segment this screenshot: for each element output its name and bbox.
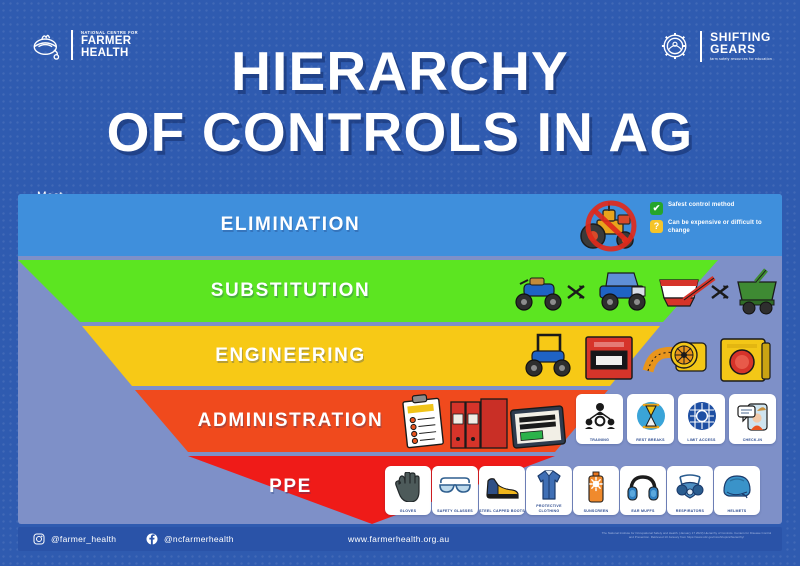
limit-access-icon [678, 394, 725, 438]
tile-caption: GLOVES [384, 509, 432, 515]
facebook-icon [146, 533, 158, 545]
swap-arrows-icon [712, 286, 728, 299]
quad-bike-icon [516, 278, 561, 310]
footer-bar: @farmer_health @ncfarmerhealth www.farme… [18, 527, 782, 551]
training-icon [576, 394, 623, 438]
no-tractor-icon [567, 198, 659, 254]
tile-steel-capped-boots: STEEL CAPPED BOOTS [479, 466, 525, 515]
gloves-icon [385, 466, 431, 509]
tile-caption: PROTECTIVE CLOTHING [525, 504, 573, 515]
grain-auger-icon [660, 278, 714, 306]
tile-caption: EAR MUFFS [619, 509, 667, 515]
hierarchy-panel: ELIMINATION ✔ Safest control method [18, 194, 782, 524]
tile-caption: SUNSCREEN [572, 509, 620, 515]
tile-sunscreen: SUNSCREEN [573, 466, 619, 515]
source-attribution: The National Institute for Occupational … [599, 531, 774, 539]
level-label-engineering: ENGINEERING [18, 345, 563, 367]
tile-caption: REST BREAKS [626, 438, 675, 444]
tile-caption: CHECK-IN [728, 438, 777, 444]
induction-training-icon [510, 406, 565, 448]
page-title: HIERARCHY OF CONTROLS IN AG [0, 44, 800, 160]
engineering-icon-group [518, 327, 780, 385]
tile-rest-breaks: REST BREAKS [627, 394, 674, 444]
sunscreen-icon [573, 466, 619, 509]
level-label-substitution: SUBSTITUTION [18, 280, 563, 302]
facebook-handle: @ncfarmerhealth [164, 534, 234, 544]
emergency-stop-icon [721, 339, 770, 381]
ventilation-fan-icon [648, 342, 706, 371]
info-box: ✔ Safest control method ? Can be expensi… [650, 202, 772, 240]
tile-caption: STEEL CAPPED BOOTS [478, 509, 526, 515]
check-in-icon [729, 394, 776, 438]
question-icon: ? [650, 220, 663, 233]
chaser-bin-icon [738, 270, 776, 314]
tile-caption: HELMETS [713, 509, 761, 515]
tile-caption: SAFETY GLASSES [431, 509, 479, 515]
fire-alarm-icon [586, 337, 632, 379]
administration-documents-group [399, 392, 571, 450]
title-line-2: OF CONTROLS IN AG [0, 105, 800, 160]
utv-side-by-side-icon [600, 273, 645, 310]
ear-muffs-icon [620, 466, 666, 509]
substitution-icon-group [508, 264, 778, 318]
title-line-1: HIERARCHY [231, 40, 569, 102]
tile-training: TRAINING [576, 394, 623, 444]
tile-respirators: RESPIRATORS [667, 466, 713, 515]
rest-breaks-icon [627, 394, 674, 438]
tile-caption: TRAINING [575, 438, 624, 444]
tile-limit-access: LIMIT ACCESS [678, 394, 725, 444]
protective-clothing-icon [526, 466, 572, 504]
poster-canvas: NATIONAL CENTRE FOR FARMER HEALTH SHIFTI [0, 0, 800, 566]
instagram-handle: @farmer_health [51, 534, 116, 544]
tile-safety-glasses: SAFETY GLASSES [432, 466, 478, 515]
info-row-safest: ✔ Safest control method [650, 202, 772, 215]
safety-glasses-icon [432, 466, 478, 509]
steel-capped-boots-icon [479, 466, 525, 509]
tile-helmets: HELMETS [714, 466, 760, 515]
tile-check-in: CHECK-IN [729, 394, 776, 444]
helmets-icon [714, 466, 760, 509]
safety-checklist-icon [403, 395, 444, 448]
respirators-icon [667, 466, 713, 509]
info-row-expensive: ? Can be expensive or difficult to chang… [650, 220, 772, 235]
rollbar-quad-icon [526, 335, 570, 376]
poster-header: NATIONAL CENTRE FOR FARMER HEALTH SHIFTI [0, 0, 800, 190]
facebook-link[interactable]: @ncfarmerhealth [146, 533, 234, 545]
tile-gloves: GLOVES [385, 466, 431, 515]
instagram-icon [33, 533, 45, 545]
website-url[interactable]: www.farmerhealth.org.au [348, 534, 449, 544]
tile-caption: RESPIRATORS [666, 509, 714, 515]
info-text-safest: Safest control method [668, 202, 735, 210]
info-text-expensive: Can be expensive or difficult to change [668, 220, 772, 235]
policy-folders-icon [451, 399, 507, 448]
instagram-link[interactable]: @farmer_health [33, 533, 116, 545]
level-label-elimination: ELIMINATION [18, 214, 563, 236]
tile-caption: LIMIT ACCESS [677, 438, 726, 444]
tile-ear-muffs: EAR MUFFS [620, 466, 666, 515]
swap-arrows-icon [568, 286, 584, 299]
check-icon: ✔ [650, 202, 663, 215]
tile-protective-clothing: PROTECTIVE CLOTHING [526, 466, 572, 515]
